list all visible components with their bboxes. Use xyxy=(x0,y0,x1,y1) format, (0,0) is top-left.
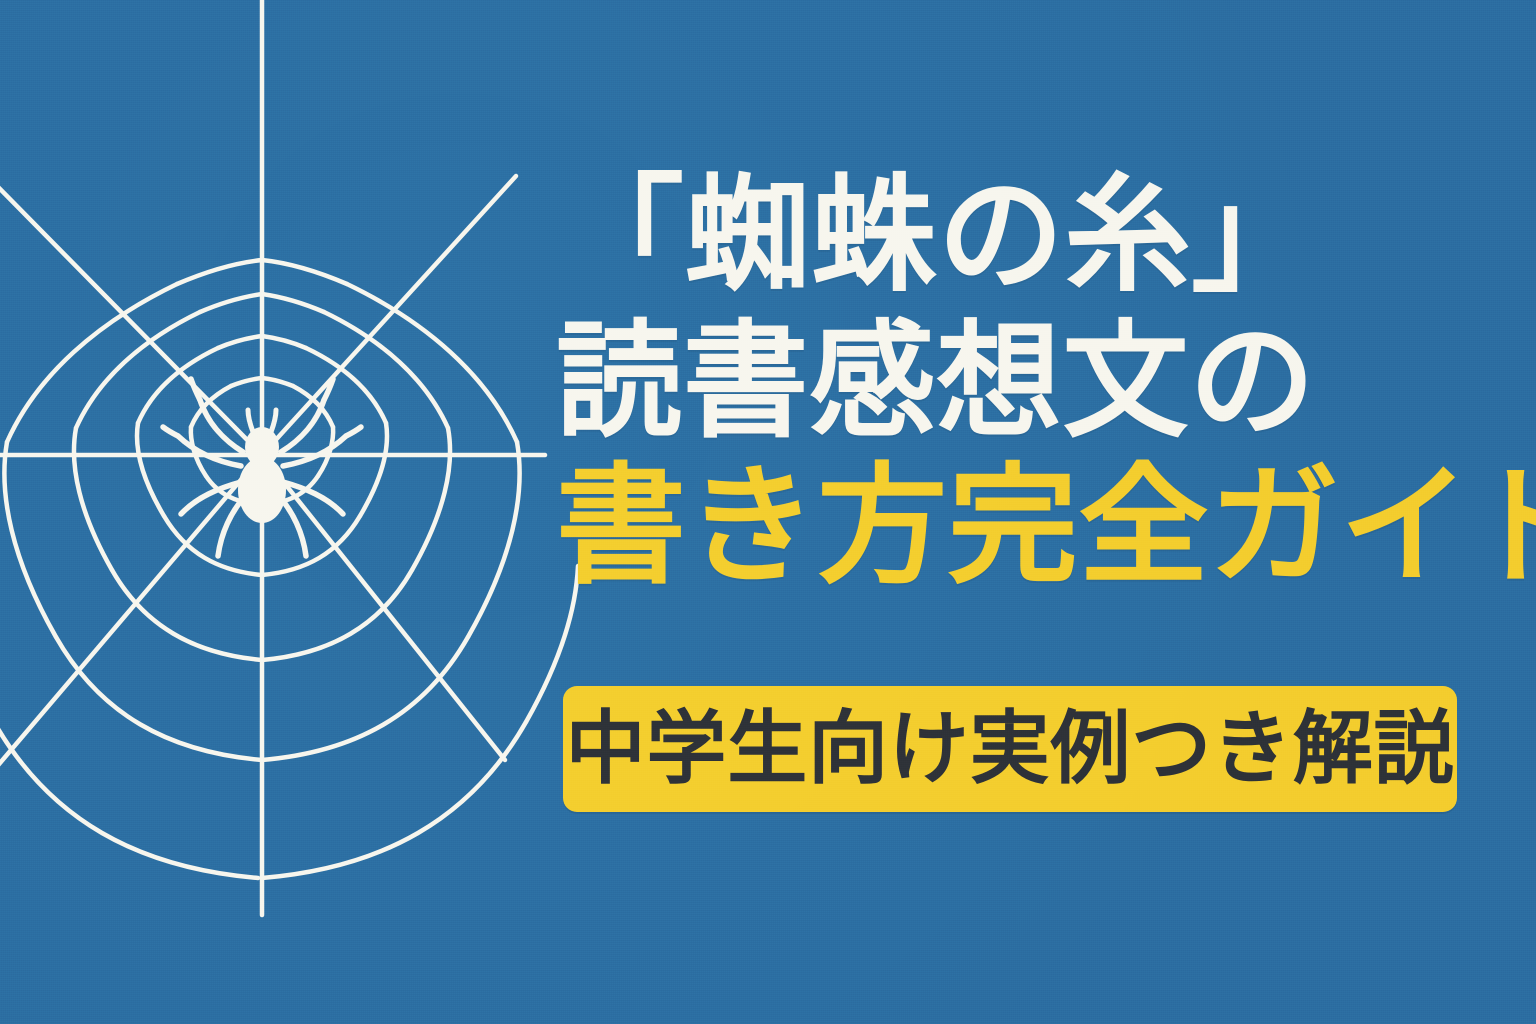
web-ring-5 xyxy=(0,566,578,878)
headline-line-2: 読書感想文の xyxy=(556,314,1486,450)
headline-block: 「蜘蛛の糸」 読書感想文の 書き方完全ガイド xyxy=(556,168,1486,597)
subtitle-badge: 中学生向け実例つき解説 xyxy=(563,686,1457,812)
subtitle-badge-text: 中学生向け実例つき解説 xyxy=(566,709,1455,789)
hero-banner: 「蜘蛛の糸」 読書感想文の 書き方完全ガイド 中学生向け実例つき解説 xyxy=(0,0,1536,1024)
headline-line-1: 「蜘蛛の糸」 xyxy=(558,168,1486,304)
spider-web-illustration xyxy=(0,0,600,1024)
headline-line-3: 書き方完全ガイド xyxy=(556,456,1486,596)
